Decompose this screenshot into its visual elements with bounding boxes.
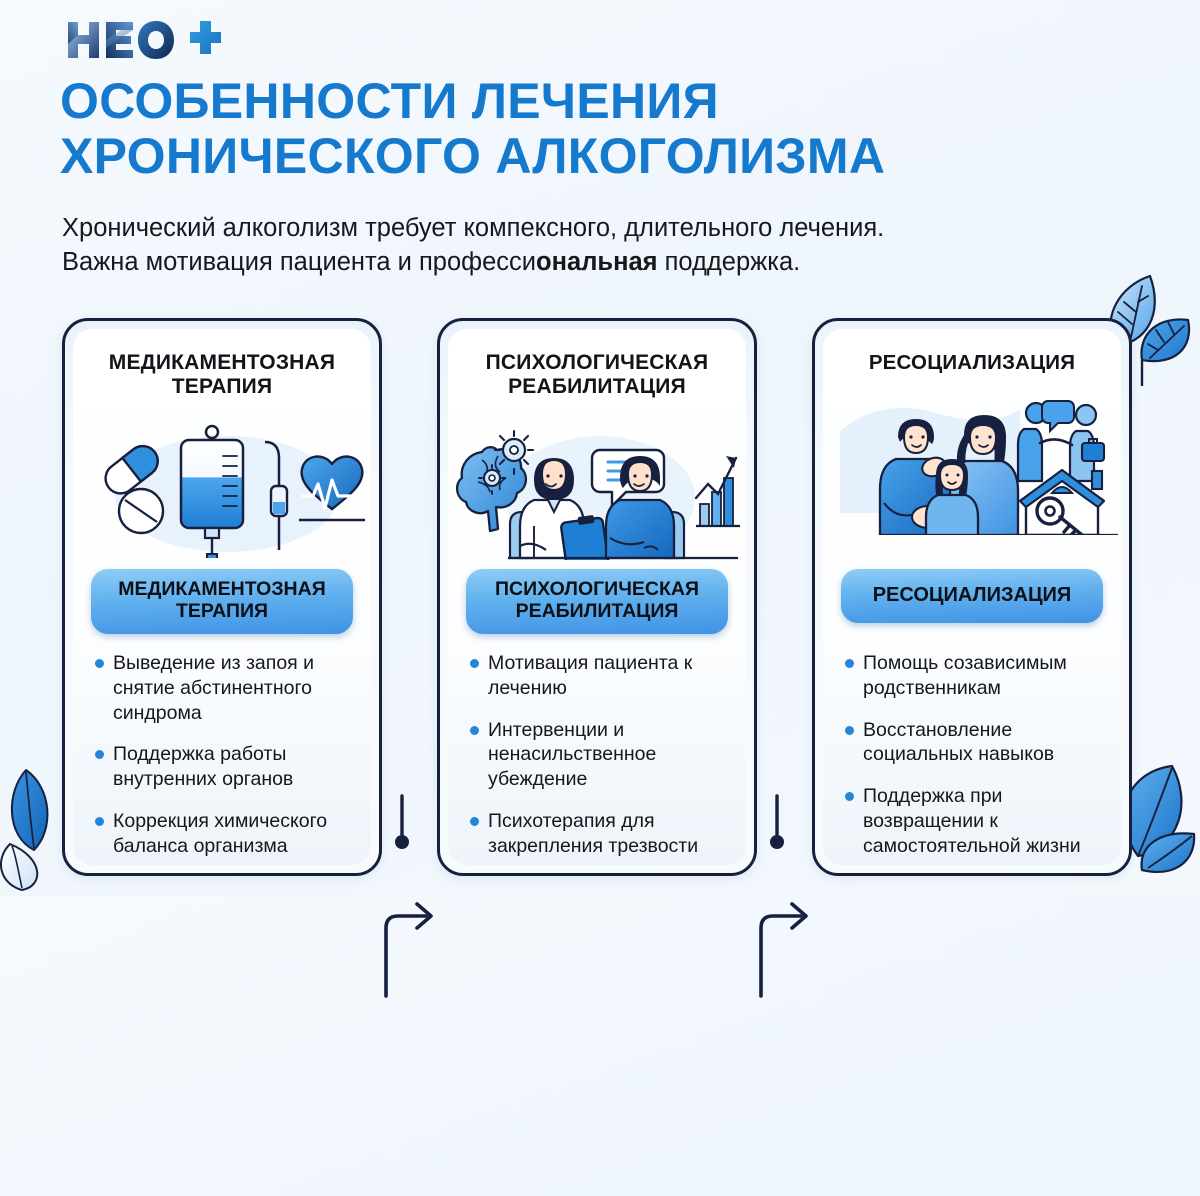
page-title-line-2: ХРОНИЧЕСКОГО АЛКОГОЛИЗМА xyxy=(60,129,1160,184)
card-bullet-list: Помощь созависимым родственникам Восстан… xyxy=(845,651,1107,858)
bullet-text: Психотерапия для закрепления трезвости xyxy=(488,809,732,859)
family-handshake-house-key-icon xyxy=(824,383,1120,535)
list-item: Выведение из запоя и снятие абстинентног… xyxy=(95,651,357,725)
infographic-page: ОСОБЕННОСТИ ЛЕЧЕНИЯ ХРОНИЧЕСКОГО АЛКОГОЛ… xyxy=(0,0,1200,896)
list-item: Коррекция химического баланса организма xyxy=(95,809,357,859)
bullet-text: Коррекция химического баланса организма xyxy=(113,809,357,859)
therapist-patient-brain-gears-speech-bubble-growth-chart-icon xyxy=(448,408,746,560)
card-heading: ПСИХОЛОГИЧЕСКАЯ РЕАБИЛИТАЦИЯ xyxy=(462,351,732,400)
bullet-text: Поддержка работы внутренних органов xyxy=(113,742,357,792)
bullet-text: Интервенции и ненасильственное убеждение xyxy=(488,718,732,792)
page-title-line-1: ОСОБЕННОСТИ ЛЕЧЕНИЯ xyxy=(60,73,719,129)
bullet-dot-icon xyxy=(95,750,104,759)
bullet-text: Выведение из запоя и снятие абстинентног… xyxy=(113,651,357,725)
page-title: ОСОБЕННОСТИ ЛЕЧЕНИЯ ХРОНИЧЕСКОГО АЛКОГОЛ… xyxy=(60,74,1160,184)
bullet-dot-icon xyxy=(95,659,104,668)
card-resocializaciya[interactable]: РЕСОЦИАЛИЗАЦИЯ xyxy=(812,318,1132,876)
list-item: Помощь созависимым родственникам xyxy=(845,651,1107,701)
brand-logo[interactable] xyxy=(62,16,232,64)
list-item: Интервенции и ненасильственное убеждение xyxy=(470,718,732,792)
list-item: Поддержка при возвращении к самостоятель… xyxy=(845,784,1107,858)
list-item: Восстановление социальных навыков xyxy=(845,718,1107,768)
card-badge[interactable]: ПСИХОЛОГИЧЕСКАЯ РЕАБИЛИТАЦИЯ xyxy=(466,569,728,634)
pills-iv-drip-syringe-heart-pulse-icon xyxy=(77,408,367,558)
arrow-card2-to-card3 xyxy=(761,796,806,996)
card-heading: МЕДИКАМЕНТОЗНАЯ ТЕРАПИЯ xyxy=(87,351,357,400)
page-subtitle: Хронический алкоголизм требует компексно… xyxy=(62,212,1122,279)
card-psihologicheskaya-reabilitaciya[interactable]: ПСИХОЛОГИЧЕСКАЯ РЕАБИЛИТАЦИЯ xyxy=(437,318,757,876)
neo-plus-logo-icon xyxy=(62,16,232,64)
bullet-dot-icon xyxy=(845,726,854,735)
bullet-text: Помощь созависимым родственникам xyxy=(863,651,1107,701)
list-item: Поддержка работы внутренних органов xyxy=(95,742,357,792)
subtitle-line-2-post: поддержка. xyxy=(658,248,801,276)
card-illustration xyxy=(823,383,1121,538)
bullet-text: Поддержка при возвращении к самостоятель… xyxy=(863,784,1107,858)
bullet-dot-icon xyxy=(470,659,479,668)
subtitle-line-1: Хронический алкоголизм требует компексно… xyxy=(62,214,884,242)
bullet-dot-icon xyxy=(845,659,854,668)
bullet-text: Мотивация пациента к лечению xyxy=(488,651,732,701)
bullet-dot-icon xyxy=(470,726,479,735)
card-badge[interactable]: РЕСОЦИАЛИЗАЦИЯ xyxy=(841,569,1103,623)
arrow-card1-to-card2 xyxy=(386,796,431,996)
list-item: Психотерапия для закрепления трезвости xyxy=(470,809,732,859)
card-bullet-list: Мотивация пациента к лечению Интервенции… xyxy=(470,651,732,858)
list-item: Мотивация пациента к лечению xyxy=(470,651,732,701)
bullet-dot-icon xyxy=(95,817,104,826)
treatment-cards: МЕДИКАМЕНТОЗНАЯ ТЕРАПИЯ xyxy=(0,318,1200,878)
bullet-dot-icon xyxy=(470,817,479,826)
card-medikamentoznaya-terapiya[interactable]: МЕДИКАМЕНТОЗНАЯ ТЕРАПИЯ xyxy=(62,318,382,876)
subtitle-line-2-pre: Важна мотивация пациента и професси xyxy=(62,248,536,276)
card-illustration xyxy=(73,408,371,563)
bullet-dot-icon xyxy=(845,792,854,801)
card-illustration xyxy=(448,408,746,563)
card-badge[interactable]: МЕДИКАМЕНТОЗНАЯ ТЕРАПИЯ xyxy=(91,569,353,634)
bullet-text: Восстановление социальных навыков xyxy=(863,718,1107,768)
card-bullet-list: Выведение из запоя и снятие абстинентног… xyxy=(95,651,357,858)
subtitle-line-2-bold: ональная xyxy=(536,248,658,276)
card-heading: РЕСОЦИАЛИЗАЦИЯ xyxy=(837,351,1107,375)
